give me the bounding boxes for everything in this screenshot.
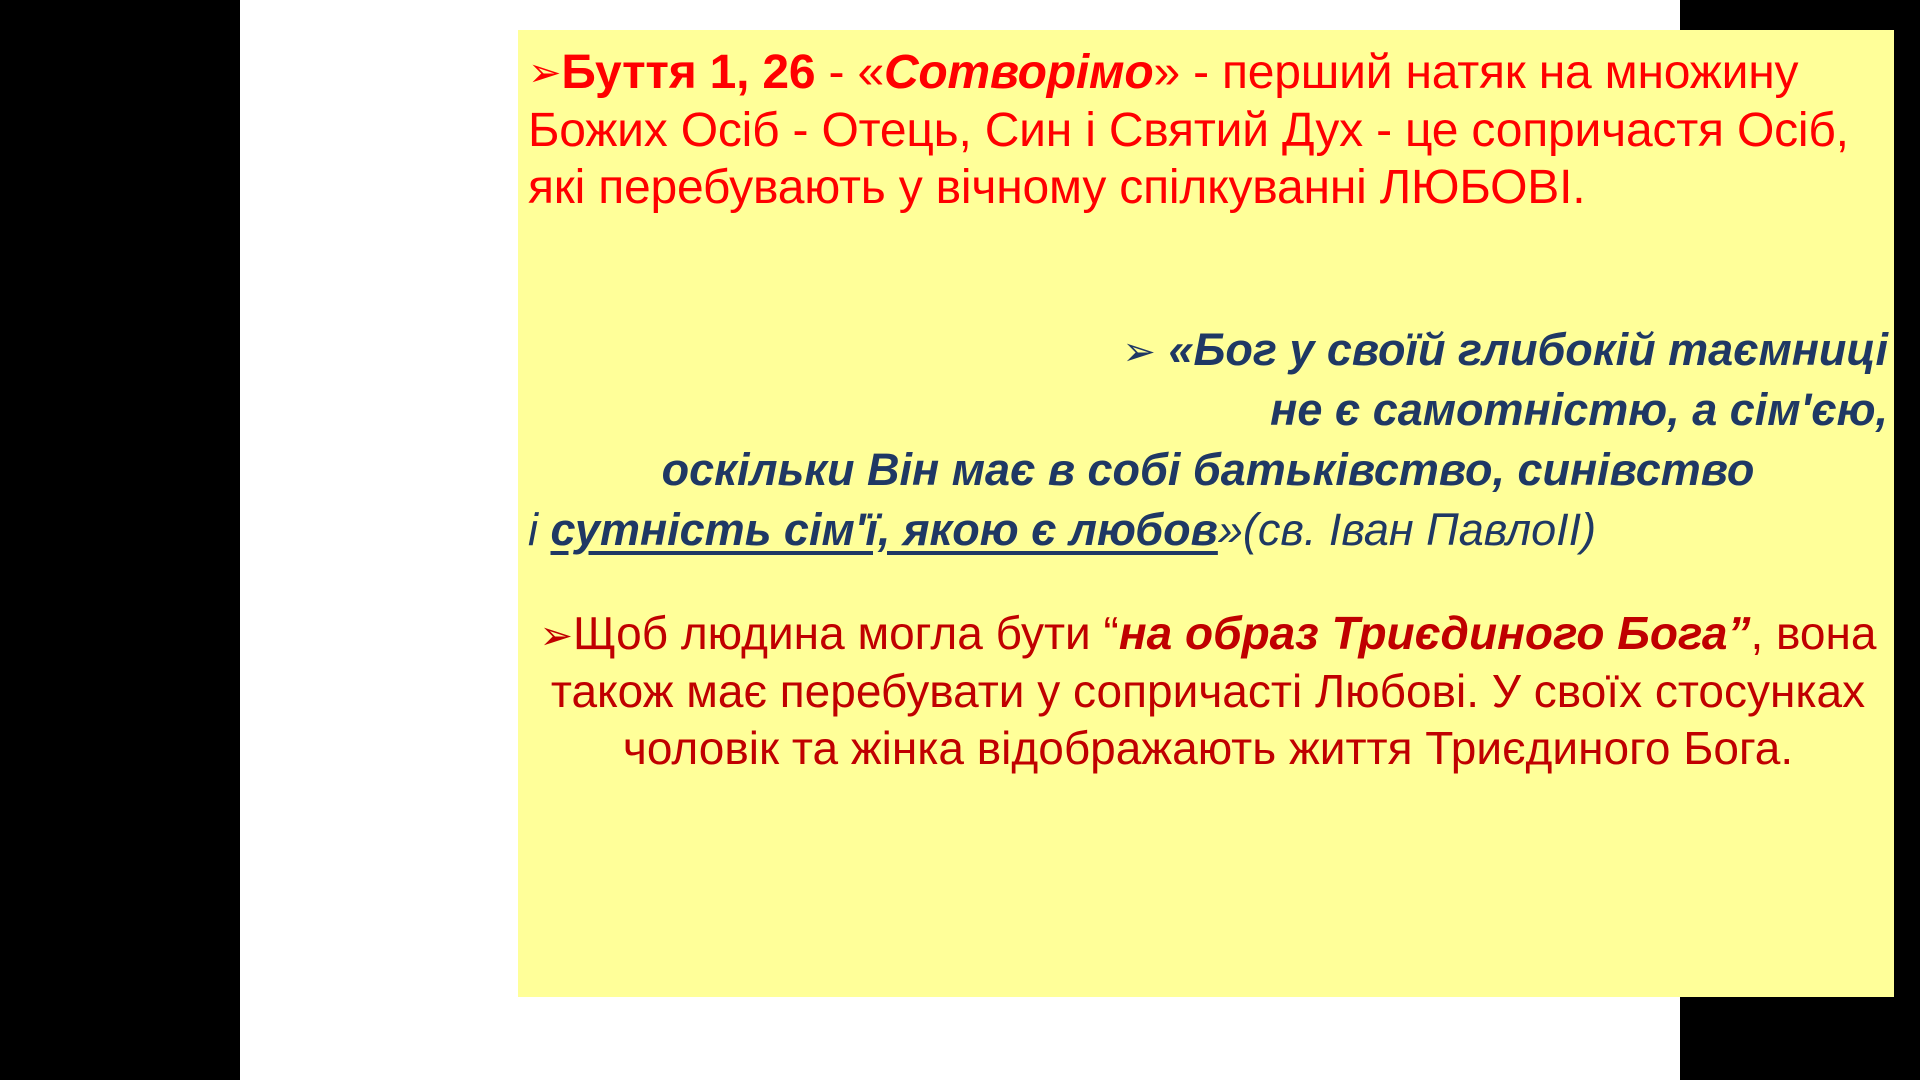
bullet-arrow-dark-icon: ➢ [1122, 332, 1156, 372]
paragraph-image-of-god: ➢Щоб людина могла бути “на образ Триєдин… [528, 605, 1888, 778]
slide-screen: ➢Буття 1, 26 - «Сотворімо» - перший натя… [0, 0, 1920, 1080]
quote-attribution: »(св. Іван ПавлоII) [1218, 504, 1596, 555]
quote-line-3: оскільки Він має в собі батьківство, син… [528, 440, 1888, 500]
scripture-reference: Буття 1, 26 [561, 46, 815, 99]
quote-line-1: ➢ «Бог у своїй глибокій таємниці [528, 320, 1888, 380]
paragraph-image-part1: Щоб людина могла бути “ [573, 607, 1119, 659]
bullet-arrow-icon: ➢ [528, 53, 561, 93]
content-panel: ➢Буття 1, 26 - «Сотворімо» - перший натя… [518, 30, 1894, 997]
quote-line-4: і сутність сім'ї, якою є любов»(св. Іван… [528, 500, 1888, 560]
quote-line-4-prefix: і [528, 504, 551, 555]
quote-line-2: не є самотністю, а сім'єю, [528, 380, 1888, 440]
quote-open-1: « [857, 46, 884, 99]
letterbox-bar-left [0, 0, 240, 1080]
quoted-word-sotvorimo: Сотворімо [884, 46, 1153, 99]
quote-line-4-underlined: сутність сім'ї, якою є любов [551, 504, 1218, 555]
slide-canvas: ➢Буття 1, 26 - «Сотворімо» - перший натя… [240, 0, 1680, 1080]
quote-line-1-text: «Бог у своїй глибокій таємниці [1168, 324, 1888, 375]
paragraph-john-paul-quote: ➢ «Бог у своїй глибокій таємниці не є са… [528, 320, 1888, 559]
paragraph-genesis: ➢Буття 1, 26 - «Сотворімо» - перший натя… [528, 44, 1888, 217]
quote-close-1: » [1153, 46, 1180, 99]
bullet-arrow-crimson-icon: ➢ [539, 616, 573, 656]
paragraph-image-emphasis: на образ Триєдиного Бога” [1119, 607, 1751, 659]
dash-separator-1: - [815, 46, 857, 99]
